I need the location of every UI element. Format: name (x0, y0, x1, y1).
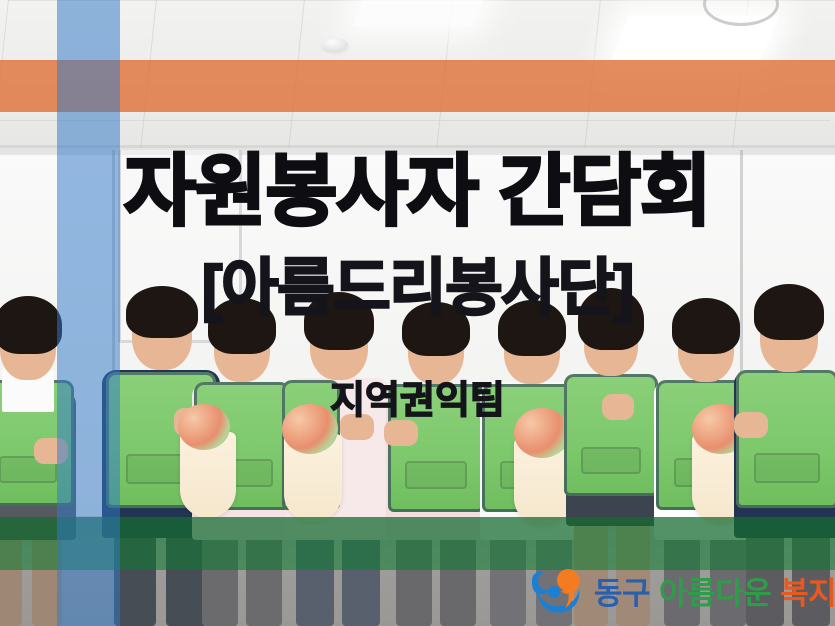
arm-heart-gesture (384, 420, 418, 446)
poster-title-line1: 자원봉사자 간담회 (0, 152, 835, 230)
poster-title-line2: [아름드리봉사단] (0, 258, 835, 320)
organization-logo: 동구아름다운복지관 (528, 566, 835, 614)
logo-wordmark: 동구아름다운복지관 (594, 568, 835, 613)
logo-word-areumdaun: 아름다운 (659, 576, 771, 611)
logo-word-donggu: 동구 (594, 576, 650, 611)
poster-canvas: 자원봉사자 간담회 [아름드리봉사단] 지역권익팀 동구아름다운복지관 (0, 0, 835, 626)
ceiling-light-panel (353, 0, 488, 26)
logo-word-bokjigwan: 복지관 (780, 576, 835, 611)
donggu-welfare-swirl-logo-icon (528, 566, 584, 614)
horizontal-orange-band (0, 60, 835, 112)
poster-subtitle-team: 지역권익팀 (0, 382, 835, 420)
ceiling-sprinkler-icon (322, 38, 348, 51)
horizontal-green-band (0, 517, 835, 570)
